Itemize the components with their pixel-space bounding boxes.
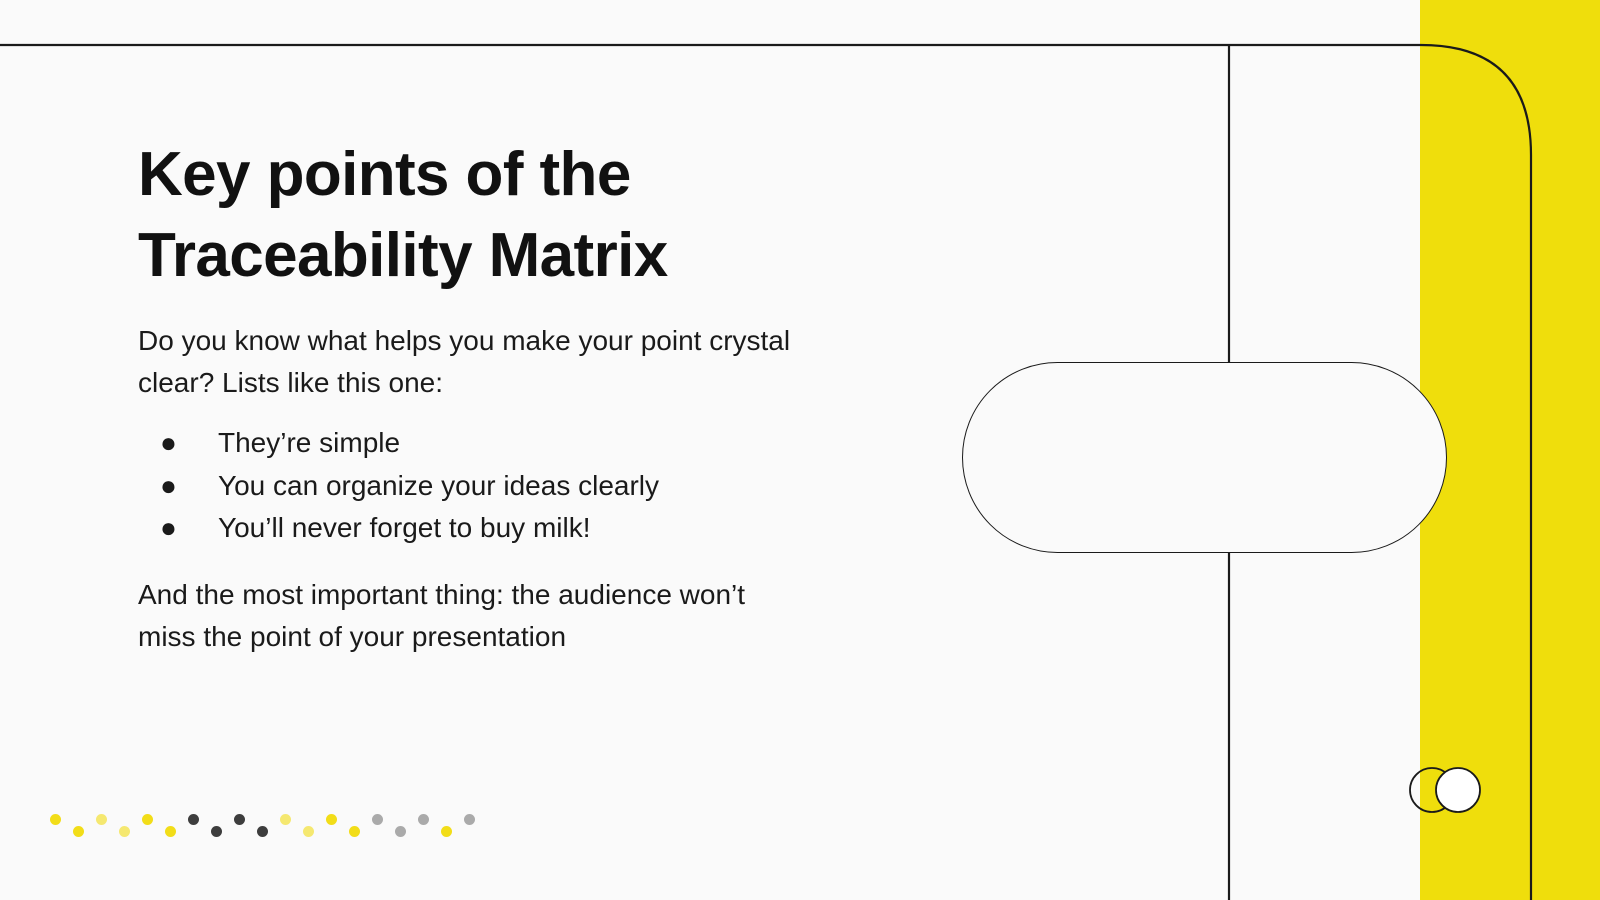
pattern-dot [441,826,452,837]
dot-pattern-decoration [50,808,480,844]
pattern-dot [349,826,360,837]
pattern-dot [96,814,107,825]
list-item: ●They’re simple [138,422,808,465]
pattern-dot [50,814,61,825]
pattern-dot [257,826,268,837]
bullet-point-icon: ● [160,422,177,465]
closing-paragraph: And the most important thing: the audien… [138,574,808,658]
bullet-list: ●They’re simple●You can organize your id… [138,422,808,550]
pattern-dot [234,814,245,825]
pill-shape-decoration [962,362,1447,553]
page-title: Key points of the Traceability Matrix [138,134,838,298]
list-item-label: You can organize your ideas clearly [218,470,659,501]
intro-paragraph: Do you know what helps you make your poi… [138,320,808,404]
title-line-2: Traceability Matrix [138,221,668,290]
list-item-label: You’ll never forget to buy milk! [218,512,591,543]
pattern-dot [280,814,291,825]
pattern-dot [73,826,84,837]
pattern-dot [418,814,429,825]
pattern-dot [464,814,475,825]
list-item-label: They’re simple [218,427,400,458]
title-line-1: Key points of the [138,140,631,209]
list-item: ●You’ll never forget to buy milk! [138,507,808,550]
pattern-dot [211,826,222,837]
pattern-dot [372,814,383,825]
pattern-dot [165,826,176,837]
pattern-dot [119,826,130,837]
presentation-slide: Key points of the Traceability Matrix Do… [0,0,1600,900]
overlapping-circles-logo [1408,766,1488,814]
pattern-dot [326,814,337,825]
bullet-point-icon: ● [160,465,177,508]
slide-body: Do you know what helps you make your poi… [138,320,808,658]
pattern-dot [188,814,199,825]
list-item: ●You can organize your ideas clearly [138,465,808,508]
logo-circle-filled [1436,768,1480,812]
pattern-dot [142,814,153,825]
pattern-dot [395,826,406,837]
bullet-point-icon: ● [160,507,177,550]
pattern-dot [303,826,314,837]
